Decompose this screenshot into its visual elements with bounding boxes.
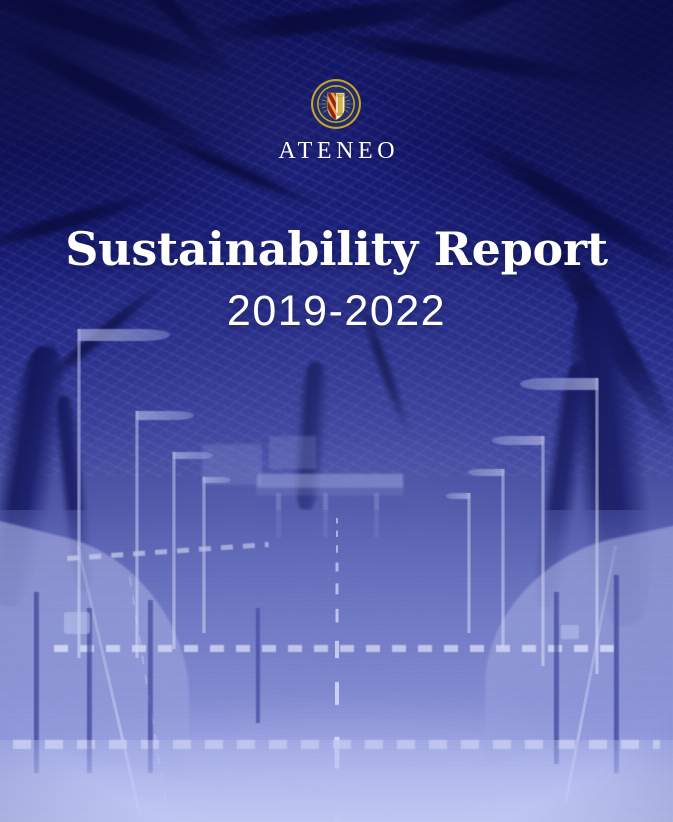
ateneo-wordmark: ATENEO — [274, 139, 400, 163]
report-cover-page: ATENEO Sustainability Report 2019-2022 — [0, 0, 673, 822]
cover-title: Sustainability Report — [65, 226, 607, 272]
cover-subtitle-years: 2019-2022 — [227, 290, 446, 333]
cover-overlay: ATENEO Sustainability Report 2019-2022 — [0, 0, 673, 822]
ateneo-university-seal-icon — [310, 78, 362, 130]
brand-lockup: ATENEO — [274, 78, 400, 163]
